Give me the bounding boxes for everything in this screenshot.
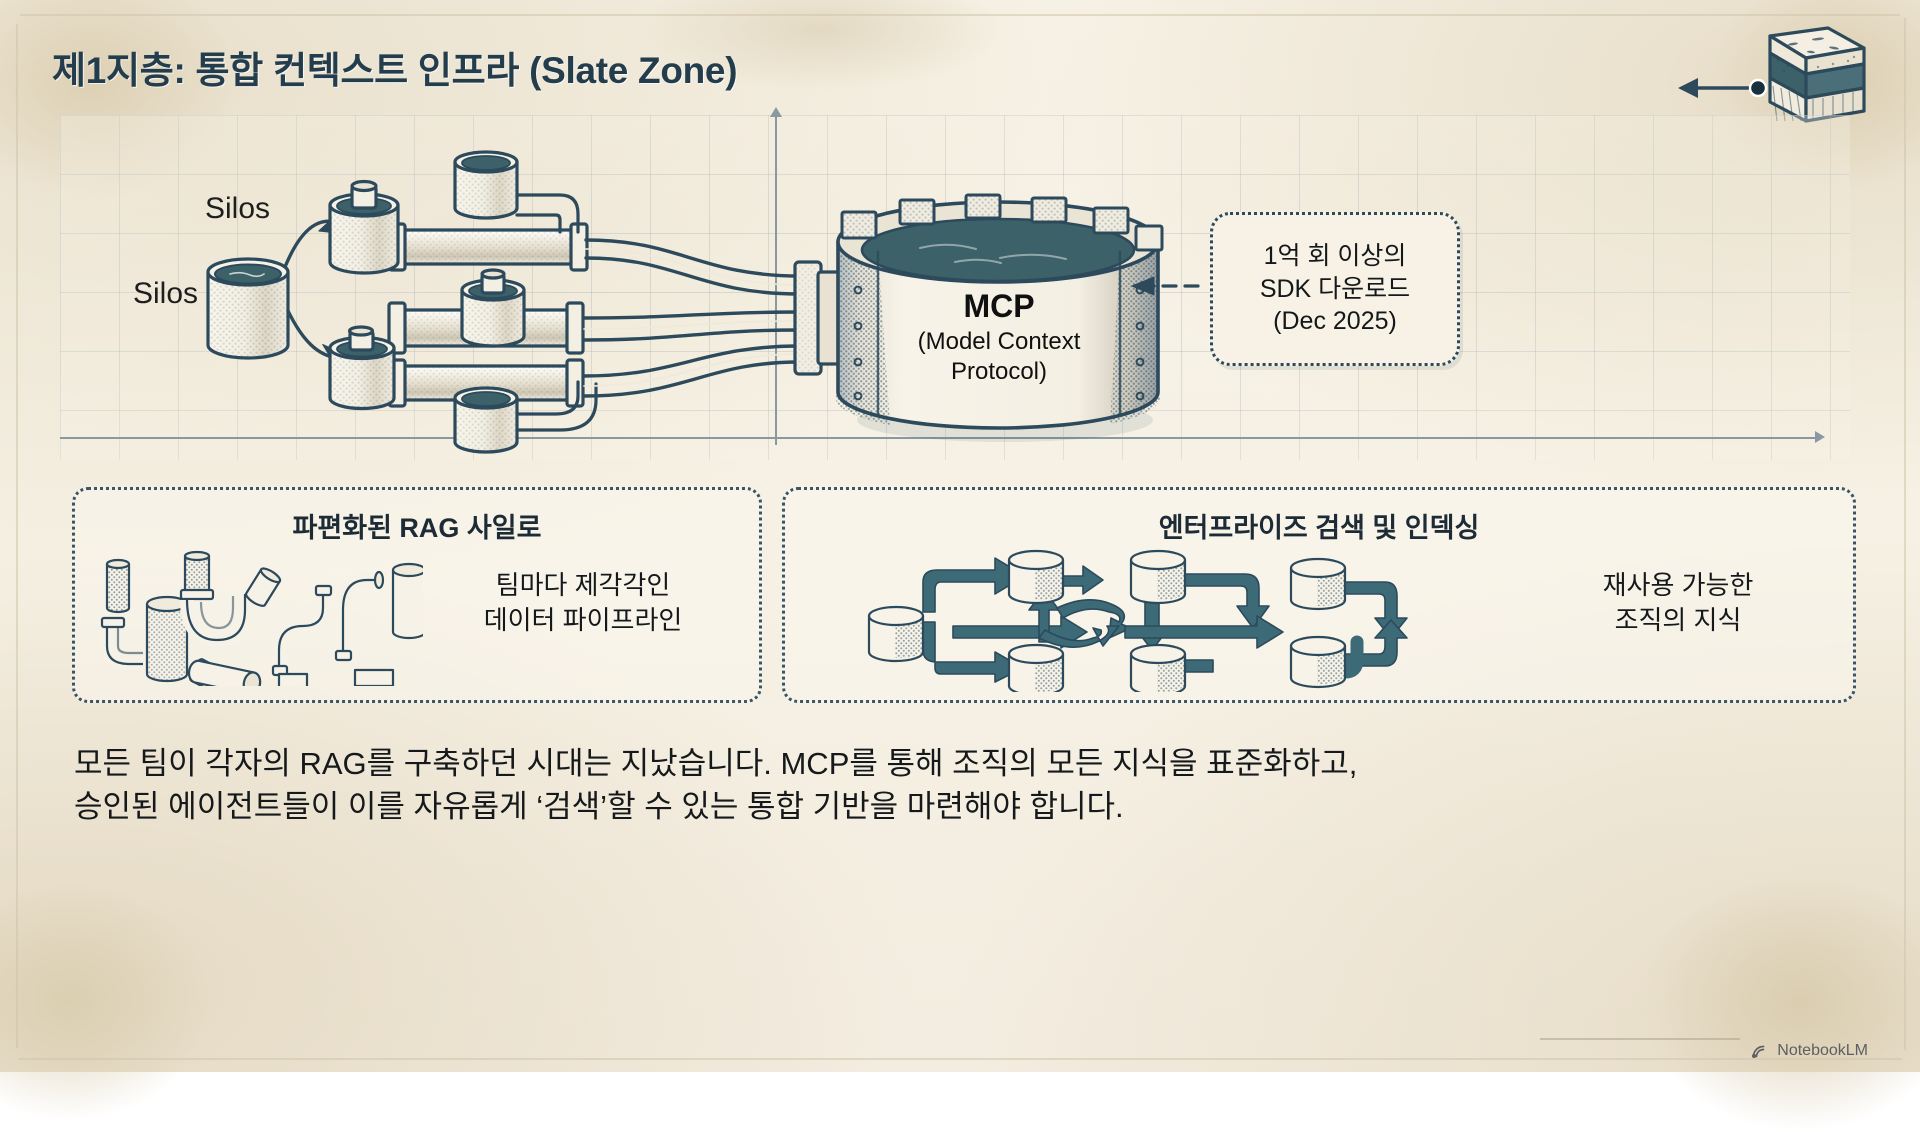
panel-left-heading: 파편화된 RAG 사일로 [75,506,759,545]
page-border-left [16,24,18,1048]
x-axis [60,437,1820,439]
panel-right-body-line1: 재사용 가능한 [1533,568,1823,603]
callout-line-3: (Dec 2025) [1260,305,1410,338]
scattered-broken-pipes-illustration [93,546,423,691]
silos-label-top: Silos [205,192,270,226]
page-border-bottom [18,1058,1902,1060]
callout-line-2: SDK 다운로드 [1260,273,1410,306]
tank-label: MCP (Model Context Protocol) [870,288,1128,386]
panel-left-body-line1: 팀마다 제각각인 [433,568,733,603]
connected-database-network-illustration [825,542,1445,697]
panel-right-body: 재사용 가능한 조직의 지식 [1533,568,1823,638]
tank-subtitle-line1: (Model Context [870,328,1128,356]
panel-fragmented-rag-silos: 파편화된 RAG 사일로 [72,487,762,703]
strata-pointer-arrow [1678,78,1766,98]
y-axis-arrow-icon [770,107,782,117]
panel-right-heading: 엔터프라이즈 검색 및 인덱싱 [785,506,1853,545]
paper-stain [1640,872,1920,1132]
callout-line-1: 1억 회 이상의 [1260,240,1410,273]
footer-divider [1540,1038,1740,1040]
panel-left-body-line2: 데이터 파이프라인 [433,603,733,638]
tank-title: MCP [870,288,1128,326]
panel-enterprise-search-indexing: 엔터프라이즈 검색 및 인덱싱 [782,487,1856,703]
sdk-downloads-callout: 1억 회 이상의 SDK 다운로드 (Dec 2025) [1210,212,1460,366]
notebooklm-logo-icon [1751,1044,1770,1059]
summary-caption: 모든 팀이 각자의 RAG를 구축하던 시대는 지났습니다. MCP를 통해 조… [74,742,1834,829]
silos-label-bottom: Silos [133,277,198,311]
page-border-right [1904,18,1906,1050]
infographic-page: 제1지층: 통합 컨텍스트 인프라 (Slate Zone) [0,0,1920,1072]
panel-right-body-line2: 조직의 지식 [1533,603,1823,638]
caption-line-1: 모든 팀이 각자의 RAG를 구축하던 시대는 지났습니다. MCP를 통해 조… [74,742,1834,785]
x-axis-arrow-icon [1815,431,1825,443]
brand-label: NotebookLM [1777,1042,1868,1060]
paper-stain [0,882,210,1122]
caption-line-2: 승인된 에이전트들이 이를 자유롭게 ‘검색’할 수 있는 통합 기반을 마련해… [74,785,1834,828]
notebooklm-brand: NotebookLM [1751,1042,1868,1060]
panel-left-body: 팀마다 제각각인 데이터 파이프라인 [433,568,733,638]
page-border-top [20,14,1900,16]
page-title: 제1지층: 통합 컨텍스트 인프라 (Slate Zone) [52,40,737,94]
y-axis [775,115,777,445]
tank-subtitle-line2: Protocol) [870,358,1128,386]
